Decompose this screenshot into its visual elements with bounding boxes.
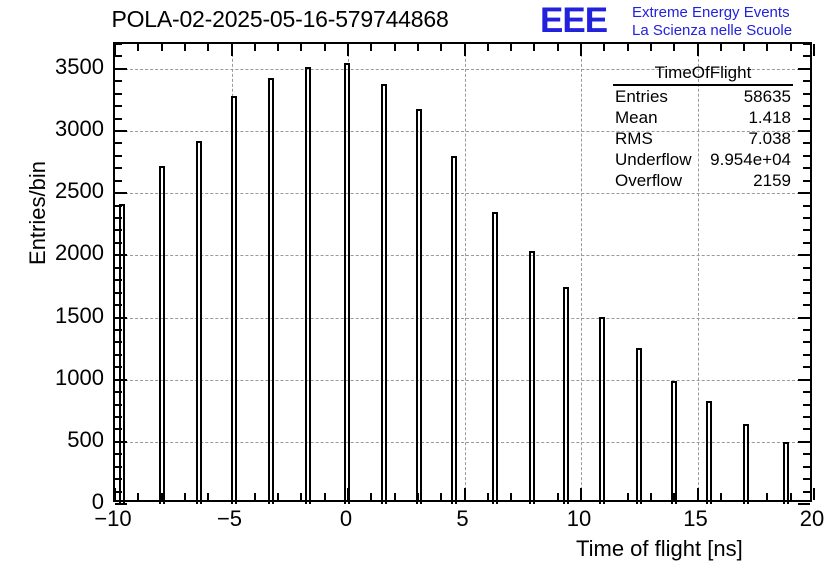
y-axis-tick — [115, 118, 122, 120]
y-axis-tick — [115, 466, 122, 468]
eee-logo-line1: Extreme Energy Events — [632, 4, 790, 21]
y-axis-tick — [803, 167, 810, 169]
x-axis-tick — [557, 493, 559, 500]
y-axis-tick — [803, 329, 810, 331]
y-axis-tick — [115, 478, 122, 480]
y-axis-tick — [803, 478, 810, 480]
x-axis-tick — [464, 488, 466, 500]
x-axis-tick — [370, 44, 372, 51]
x-axis-tick — [137, 44, 139, 51]
histogram-bar — [783, 442, 789, 504]
eee-logo: EEE Extreme Energy Events La Scienza nel… — [540, 2, 836, 42]
histogram-bar — [416, 109, 422, 504]
stats-value: 58635 — [744, 86, 791, 107]
y-axis-tick — [115, 304, 122, 306]
gridline-horizontal — [115, 255, 810, 256]
eee-logo-line2: La Scienza nelle Scuole — [632, 22, 792, 39]
x-axis-tick — [790, 493, 792, 500]
x-axis-tick — [207, 493, 209, 500]
x-axis-tick-label: −10 — [73, 506, 153, 532]
histogram-bar — [636, 348, 642, 504]
eee-logo-mark: EEE — [540, 2, 607, 40]
x-axis-tick — [440, 493, 442, 500]
y-axis-tick — [803, 155, 810, 157]
x-axis-tick — [417, 493, 419, 500]
x-axis-tick — [650, 493, 652, 500]
x-axis-tick — [137, 493, 139, 500]
stats-key: Underflow — [615, 149, 692, 170]
y-axis-tick — [115, 491, 122, 493]
y-axis-tick — [798, 441, 810, 443]
x-axis-tick — [603, 44, 605, 51]
histogram-bar — [196, 141, 202, 504]
y-axis-tick — [115, 43, 122, 45]
y-axis-tick — [803, 391, 810, 393]
x-axis-tick — [184, 493, 186, 500]
y-axis-tick — [803, 55, 810, 57]
x-axis-tick-label: 0 — [306, 506, 386, 532]
y-axis-tick — [115, 267, 122, 269]
x-axis-tick — [394, 44, 396, 51]
y-axis-tick-label: 1500 — [14, 305, 104, 327]
x-axis-tick — [627, 44, 629, 51]
x-axis-tick — [790, 44, 792, 51]
stats-row: RMS7.038 — [613, 128, 793, 149]
y-axis-tick — [803, 267, 810, 269]
x-axis-tick — [347, 488, 349, 500]
x-axis-tick — [440, 44, 442, 51]
x-axis-tick — [161, 44, 163, 51]
stats-key: Entries — [615, 86, 668, 107]
y-axis-tick — [115, 379, 127, 381]
x-axis-labels: −10−505101520 — [113, 506, 812, 536]
y-axis-tick-label: 2000 — [14, 242, 104, 264]
y-axis-tick — [803, 118, 810, 120]
gridline-horizontal — [115, 193, 810, 194]
y-axis-tick — [798, 379, 810, 381]
x-axis-tick — [603, 493, 605, 500]
stats-value: 2159 — [753, 170, 791, 191]
stats-key: Mean — [615, 107, 658, 128]
y-axis-tick — [115, 155, 122, 157]
stats-row: Underflow9.954e+04 — [613, 149, 793, 170]
x-axis-tick — [510, 493, 512, 500]
stats-row: Overflow2159 — [613, 170, 793, 191]
x-axis-tick-label: 10 — [539, 506, 619, 532]
y-axis-tick — [115, 416, 122, 418]
histogram-bar — [706, 401, 712, 504]
x-axis-tick — [650, 44, 652, 51]
x-axis-tick — [743, 493, 745, 500]
y-axis-tick — [115, 242, 122, 244]
x-axis-tick — [720, 493, 722, 500]
y-axis-tick — [803, 404, 810, 406]
y-axis-tick — [115, 55, 122, 57]
x-axis-tick — [697, 44, 699, 56]
y-axis-tick — [115, 341, 122, 343]
x-axis-tick — [487, 493, 489, 500]
x-axis-tick — [254, 493, 256, 500]
y-axis-tick — [803, 416, 810, 418]
histogram-bar — [381, 84, 387, 504]
stats-key: RMS — [615, 128, 653, 149]
x-axis-tick — [254, 44, 256, 51]
histogram-bar — [671, 381, 677, 504]
statistics-box: TimeOfFlight Entries58635Mean1.418RMS7.0… — [613, 62, 793, 191]
x-axis-tick — [417, 44, 419, 51]
x-axis-tick — [627, 493, 629, 500]
y-axis-tick — [803, 80, 810, 82]
y-axis-tick — [803, 279, 810, 281]
y-axis-tick-label: 500 — [14, 429, 104, 451]
x-axis-tick — [533, 44, 535, 51]
y-axis-tick — [115, 391, 122, 393]
y-axis-tick — [115, 229, 122, 231]
y-axis-tick — [115, 366, 122, 368]
x-axis-tick — [277, 44, 279, 51]
histogram-bar — [344, 63, 350, 504]
x-axis-tick — [114, 488, 116, 500]
page-title: POLA-02-2025-05-16-579744868 — [0, 6, 560, 33]
x-axis-tick — [487, 44, 489, 51]
y-axis-tick — [803, 341, 810, 343]
y-axis-tick — [803, 304, 810, 306]
y-axis-tick-label: 3000 — [14, 118, 104, 140]
x-axis-tick — [557, 44, 559, 51]
x-axis-tick — [370, 493, 372, 500]
x-axis-tick — [580, 44, 582, 56]
root-canvas: POLA-02-2025-05-16-579744868 EEE Extreme… — [0, 0, 836, 572]
y-axis-tick — [115, 105, 122, 107]
x-axis-tick — [324, 493, 326, 500]
x-axis-tick — [347, 44, 349, 56]
stats-row: Mean1.418 — [613, 107, 793, 128]
gridline-vertical — [581, 44, 582, 500]
histogram-bar — [743, 424, 749, 504]
gridline-horizontal — [115, 318, 810, 319]
x-axis-tick — [324, 44, 326, 51]
stats-value: 9.954e+04 — [710, 149, 791, 170]
y-axis-tick — [803, 180, 810, 182]
y-axis-tick — [803, 217, 810, 219]
histogram-bar — [305, 67, 311, 504]
x-axis-tick — [813, 488, 815, 500]
y-axis-tick-label: 1000 — [14, 367, 104, 389]
x-axis-tick — [161, 493, 163, 500]
stats-rows: Entries58635Mean1.418RMS7.038Underflow9.… — [613, 86, 793, 191]
x-axis-tick — [510, 44, 512, 51]
y-axis-tick — [115, 503, 127, 505]
histogram-bar — [451, 156, 457, 504]
x-axis-tick — [231, 44, 233, 56]
y-axis-tick — [803, 453, 810, 455]
y-axis-tick — [115, 404, 122, 406]
y-axis-tick — [115, 205, 122, 207]
y-axis-labels: 0500100015002000250030003500 — [12, 42, 104, 502]
y-axis-tick — [803, 354, 810, 356]
y-axis-tick — [115, 254, 127, 256]
y-axis-tick — [803, 466, 810, 468]
x-axis-tick-label: −5 — [190, 506, 270, 532]
y-axis-tick — [803, 105, 810, 107]
y-axis-tick — [115, 142, 122, 144]
y-axis-tick — [115, 453, 122, 455]
y-axis-tick — [115, 279, 122, 281]
x-axis-tick — [813, 44, 815, 56]
x-axis-tick — [300, 493, 302, 500]
y-axis-tick — [115, 317, 127, 319]
y-axis-tick — [798, 68, 810, 70]
y-axis-tick-label: 2500 — [14, 180, 104, 202]
x-axis-title: Time of flight [ns] — [576, 536, 743, 562]
stats-title: TimeOfFlight — [613, 62, 793, 86]
y-axis-tick — [803, 292, 810, 294]
y-axis-tick — [115, 130, 127, 132]
x-axis-tick — [277, 493, 279, 500]
y-axis-tick — [798, 317, 810, 319]
y-axis-tick — [803, 242, 810, 244]
x-axis-tick — [743, 44, 745, 51]
stats-row: Entries58635 — [613, 86, 793, 107]
x-axis-tick-label: 20 — [772, 506, 836, 532]
y-axis-tick — [115, 80, 122, 82]
histogram-bar — [231, 96, 237, 504]
y-axis-tick — [803, 229, 810, 231]
x-axis-tick — [114, 44, 116, 56]
y-axis-tick — [115, 441, 127, 443]
x-axis-tick — [394, 493, 396, 500]
x-axis-tick-label: 5 — [423, 506, 503, 532]
y-axis-tick — [115, 167, 122, 169]
y-axis-tick — [115, 354, 122, 356]
x-axis-tick — [673, 44, 675, 51]
histogram-bar — [159, 166, 165, 504]
y-axis-tick — [115, 292, 122, 294]
x-axis-tick — [580, 488, 582, 500]
y-axis-tick — [803, 366, 810, 368]
x-axis-tick — [766, 493, 768, 500]
gridline-horizontal — [115, 380, 810, 381]
y-axis-tick — [115, 192, 127, 194]
x-axis-tick — [533, 493, 535, 500]
y-axis-tick — [803, 205, 810, 207]
histogram-bar — [492, 212, 498, 504]
y-axis-tick — [115, 329, 122, 331]
y-axis-tick — [803, 43, 810, 45]
y-axis-tick — [115, 93, 122, 95]
gridline-vertical — [465, 44, 466, 500]
x-axis-tick — [673, 493, 675, 500]
stats-value: 1.418 — [748, 107, 791, 128]
y-axis-tick — [115, 217, 122, 219]
x-axis-tick — [697, 488, 699, 500]
y-axis-tick — [803, 491, 810, 493]
y-axis-tick — [798, 254, 810, 256]
x-axis-tick — [720, 44, 722, 51]
x-axis-tick — [184, 44, 186, 51]
y-axis-tick — [803, 428, 810, 430]
stats-key: Overflow — [615, 170, 682, 191]
y-axis-tick — [115, 68, 127, 70]
histogram-bar — [268, 78, 274, 504]
histogram-bar — [563, 287, 569, 504]
y-axis-tick — [803, 93, 810, 95]
x-axis-tick-label: 15 — [656, 506, 736, 532]
y-axis-tick-label: 3500 — [14, 56, 104, 78]
y-axis-tick — [798, 130, 810, 132]
stats-value: 7.038 — [748, 128, 791, 149]
x-axis-tick — [231, 488, 233, 500]
histogram-bar — [599, 317, 605, 504]
histogram-bar — [529, 251, 535, 504]
y-axis-tick — [115, 428, 122, 430]
y-axis-tick — [115, 180, 122, 182]
y-axis-tick — [798, 192, 810, 194]
x-axis-tick — [464, 44, 466, 56]
x-axis-tick — [300, 44, 302, 51]
x-axis-tick — [207, 44, 209, 51]
y-axis-tick — [798, 503, 810, 505]
y-axis-tick — [803, 142, 810, 144]
x-axis-tick — [766, 44, 768, 51]
